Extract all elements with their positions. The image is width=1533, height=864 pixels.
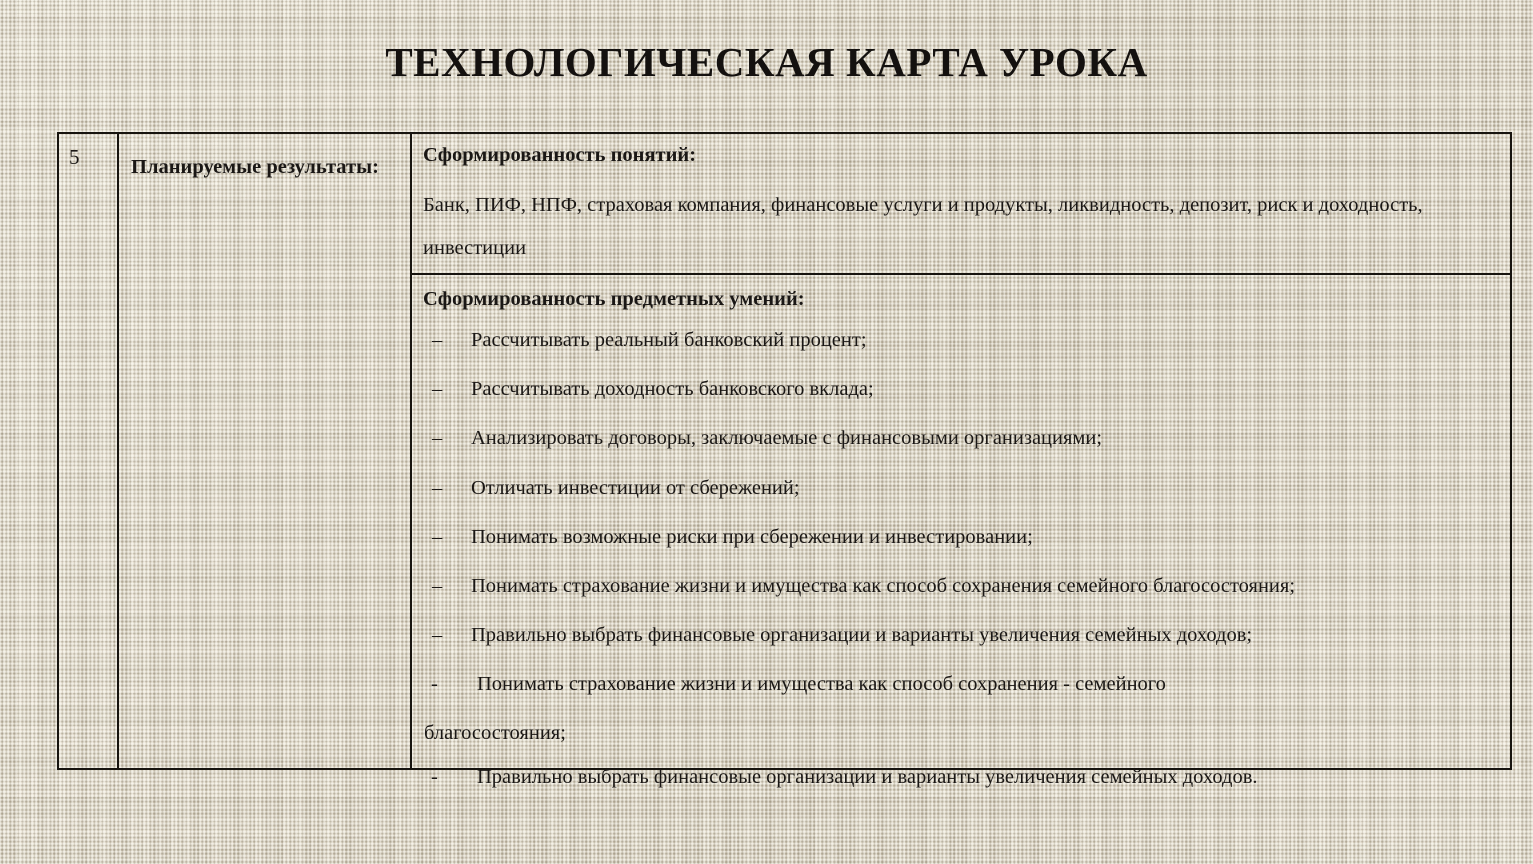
skill-bullet-icon: –: [423, 574, 471, 599]
slide-content: ТЕХНОЛОГИЧЕСКАЯ КАРТА УРОКА 5 Планируемы…: [0, 0, 1533, 864]
skill-text: Понимать страхование жизни и имущества к…: [471, 574, 1502, 599]
row-label: Планируемые результаты:: [131, 156, 379, 178]
skill-item: –Анализировать договоры, заключаемые с ф…: [423, 426, 1502, 451]
skill-item: –Рассчитывать доходность банковского вкл…: [423, 377, 1502, 402]
row-content-cell: Сформированность понятий: Банк, ПИФ, НПФ…: [412, 134, 1510, 768]
skill-item: –Понимать страхование жизни и имущества …: [423, 574, 1502, 599]
concepts-block: Сформированность понятий: Банк, ПИФ, НПФ…: [412, 134, 1510, 275]
skill-item: –Правильно выбрать финансовые организаци…: [423, 623, 1502, 648]
skill-bullet-icon: -: [423, 672, 477, 697]
skills-block: Сформированность предметных умений: –Рас…: [412, 275, 1510, 795]
page-title: ТЕХНОЛОГИЧЕСКАЯ КАРТА УРОКА: [0, 40, 1533, 86]
skills-heading: Сформированность предметных умений:: [423, 287, 1502, 312]
lesson-plan-table: 5 Планируемые результаты: Сформированнос…: [57, 132, 1512, 770]
concepts-text: Банк, ПИФ, НПФ, страховая компания, фина…: [423, 184, 1473, 269]
skill-text: Отличать инвестиции от сбережений;: [471, 476, 1502, 501]
skills-list: –Рассчитывать реальный банковский процен…: [423, 328, 1502, 789]
skill-bullet-icon: -: [423, 765, 477, 790]
skill-bullet-icon: –: [423, 328, 471, 353]
skill-item: –Понимать возможные риски при сбережении…: [423, 525, 1502, 550]
skill-bullet-icon: –: [423, 623, 471, 648]
skill-item: -Правильно выбрать финансовые организаци…: [423, 765, 1502, 790]
skill-text: Правильно выбрать финансовые организации…: [471, 623, 1502, 648]
skill-text: Рассчитывать доходность банковского вкла…: [471, 377, 1502, 402]
skill-text: Правильно выбрать финансовые организации…: [477, 765, 1502, 790]
skill-bullet-icon: –: [423, 476, 471, 501]
skill-bullet-icon: –: [423, 426, 471, 451]
skill-bullet-icon: –: [423, 377, 471, 402]
skill-item: -Понимать страхование жизни и имущества …: [423, 672, 1502, 745]
concepts-heading: Сформированность понятий:: [423, 143, 1502, 168]
skill-item: –Отличать инвестиции от сбережений;: [423, 476, 1502, 501]
skill-text-continuation: благосостояния;: [424, 721, 1502, 746]
skill-item: –Рассчитывать реальный банковский процен…: [423, 328, 1502, 353]
skill-text: Понимать возможные риски при сбережении …: [471, 525, 1502, 550]
skill-text: Понимать страхование жизни и имущества к…: [477, 673, 1166, 695]
row-number-cell: 5: [59, 134, 119, 768]
skill-text: Анализировать договоры, заключаемые с фи…: [471, 426, 1502, 451]
skill-bullet-icon: –: [423, 525, 471, 550]
row-number: 5: [69, 145, 80, 169]
row-label-cell: Планируемые результаты:: [119, 134, 412, 768]
skill-text: Рассчитывать реальный банковский процент…: [471, 328, 1502, 353]
